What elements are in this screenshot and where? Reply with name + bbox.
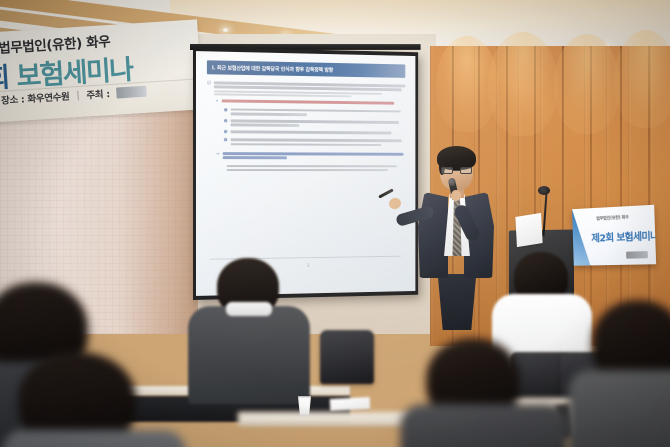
glasses-icon: [441, 167, 472, 174]
audience-member: [186, 258, 312, 398]
seminar-photo-scene: 법무법인(유한) 화우 2회 보험세미나 금) | 장소 : 화우연수원 | 주…: [0, 0, 670, 447]
audience-member: [408, 338, 558, 447]
slide-bullet-text: [231, 130, 409, 137]
hwawoo-logo-icon: [626, 251, 648, 259]
slide-bullet-marker: ❹: [224, 139, 228, 148]
presenter-jacket-left: [418, 192, 448, 278]
lectern-papers: [515, 213, 542, 247]
slide-title-bar: Ⅰ. 최근 보험산업에 대한 감독당국 인식과 향후 감독정책 방향: [207, 60, 405, 78]
slide-bullet-text: [231, 108, 409, 118]
slide-bullet: →: [216, 152, 409, 161]
audience-torso: [400, 404, 568, 447]
slide-bullet-text: [214, 81, 409, 100]
audience-collar: [226, 302, 272, 316]
wall-light-pool: [436, 36, 498, 132]
slide-title-text: Ⅰ. 최근 보험산업에 대한 감독당국 인식과 향후 감독정책 방향: [212, 64, 333, 73]
audience-member: [8, 352, 178, 447]
ceiling-downlight: [222, 28, 229, 32]
wall-light-pool: [488, 32, 558, 136]
slide-bullet: ❹: [224, 139, 409, 148]
audience-torso: [568, 370, 670, 447]
slide-bullet-text: [227, 165, 409, 174]
slide-bullet-marker: •: [216, 100, 219, 106]
hwawoo-logo-icon: [116, 85, 147, 98]
banner-place: 장소 : 화우연수원: [1, 89, 70, 107]
slide-bullet: ❸: [224, 130, 409, 137]
slide-bullet-marker: ❷: [224, 119, 228, 128]
slide-bullet-text: [231, 139, 409, 148]
slide-bullet-marker: →: [216, 152, 220, 161]
slide-bullet: ☑: [207, 81, 409, 100]
audience-member: [580, 300, 670, 447]
audience-torso: [188, 306, 310, 404]
presenter-legs: [436, 274, 478, 330]
presenter-hand-right: [451, 190, 461, 201]
slide-bullet: •: [216, 100, 409, 108]
slide-bullet-marker: ❸: [224, 130, 228, 136]
slide-body: ☑ • ❶: [207, 81, 409, 175]
slide-bullet: ❶: [224, 108, 409, 118]
slide-bullet-text: [231, 119, 409, 129]
slide-bullet-marker: ❶: [224, 108, 228, 117]
lectern-microphone-icon: [538, 186, 550, 195]
slide-bullet-marker: ☑: [207, 81, 211, 97]
slide-bullet: ❷: [224, 119, 409, 129]
banner-separator: |: [76, 89, 80, 100]
chair: [320, 330, 374, 384]
event-banner: 법무법인(유한) 화우 2회 보험세미나 금) | 장소 : 화우연수원 | 주…: [0, 19, 203, 122]
slide-bullet-text: [222, 152, 409, 161]
podium-sign-title: 제2회 보험세미나: [591, 227, 656, 245]
banner-host: 주최 :: [86, 86, 110, 101]
audience-torso: [2, 430, 186, 447]
documents: [330, 397, 371, 411]
podium-sign-organization: 법무법인(유한) 화우: [596, 214, 629, 222]
slide-bullet: [224, 165, 409, 174]
slide-bullet-text: [221, 100, 409, 108]
